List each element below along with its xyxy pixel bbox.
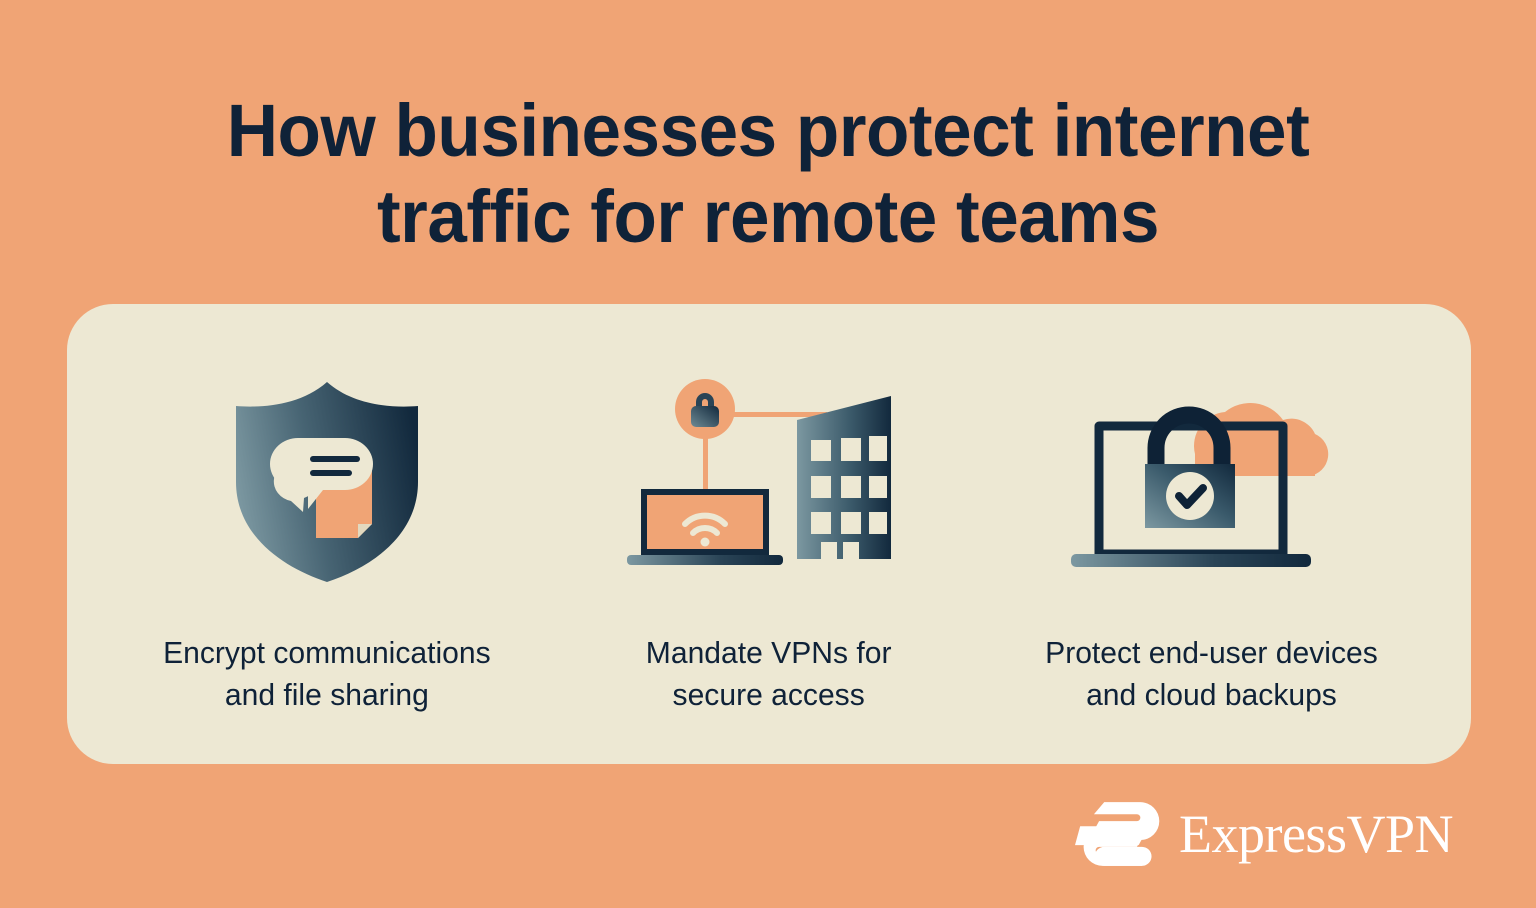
card-item-2-caption-line-2: secure access bbox=[646, 674, 892, 716]
expressvpn-e-mark-icon bbox=[1075, 797, 1161, 871]
card-columns: Encrypt communications and file sharing bbox=[67, 304, 1471, 764]
card-item-3: Protect end-user devices and cloud backu… bbox=[991, 304, 1431, 716]
page-title: How businesses protect internet traffic … bbox=[31, 88, 1506, 260]
expressvpn-logo: ExpressVPN bbox=[1075, 795, 1420, 873]
laptop-lock-building-icon bbox=[619, 356, 919, 586]
page-title-line-2: traffic for remote teams bbox=[31, 174, 1506, 260]
laptop-padlock-cloud-icon bbox=[1061, 356, 1361, 586]
card-item-2-caption-line-1: Mandate VPNs for bbox=[646, 632, 892, 674]
content-card: Encrypt communications and file sharing bbox=[67, 304, 1471, 764]
expressvpn-logo-text: ExpressVPN bbox=[1179, 807, 1453, 861]
card-item-1-caption: Encrypt communications and file sharing bbox=[163, 632, 491, 716]
card-item-3-caption-line-2: and cloud backups bbox=[1045, 674, 1378, 716]
infographic-canvas: How businesses protect internet traffic … bbox=[0, 0, 1536, 908]
shield-chat-document-icon bbox=[222, 356, 432, 586]
card-item-1-caption-line-2: and file sharing bbox=[163, 674, 491, 716]
page-title-line-1: How businesses protect internet bbox=[31, 88, 1506, 174]
card-item-2-caption: Mandate VPNs for secure access bbox=[646, 632, 892, 716]
card-item-1-caption-line-1: Encrypt communications bbox=[163, 632, 491, 674]
card-item-3-caption-line-1: Protect end-user devices bbox=[1045, 632, 1378, 674]
card-item-1: Encrypt communications and file sharing bbox=[107, 304, 547, 716]
card-item-2: Mandate VPNs for secure access bbox=[549, 304, 989, 716]
card-item-3-caption: Protect end-user devices and cloud backu… bbox=[1045, 632, 1378, 716]
